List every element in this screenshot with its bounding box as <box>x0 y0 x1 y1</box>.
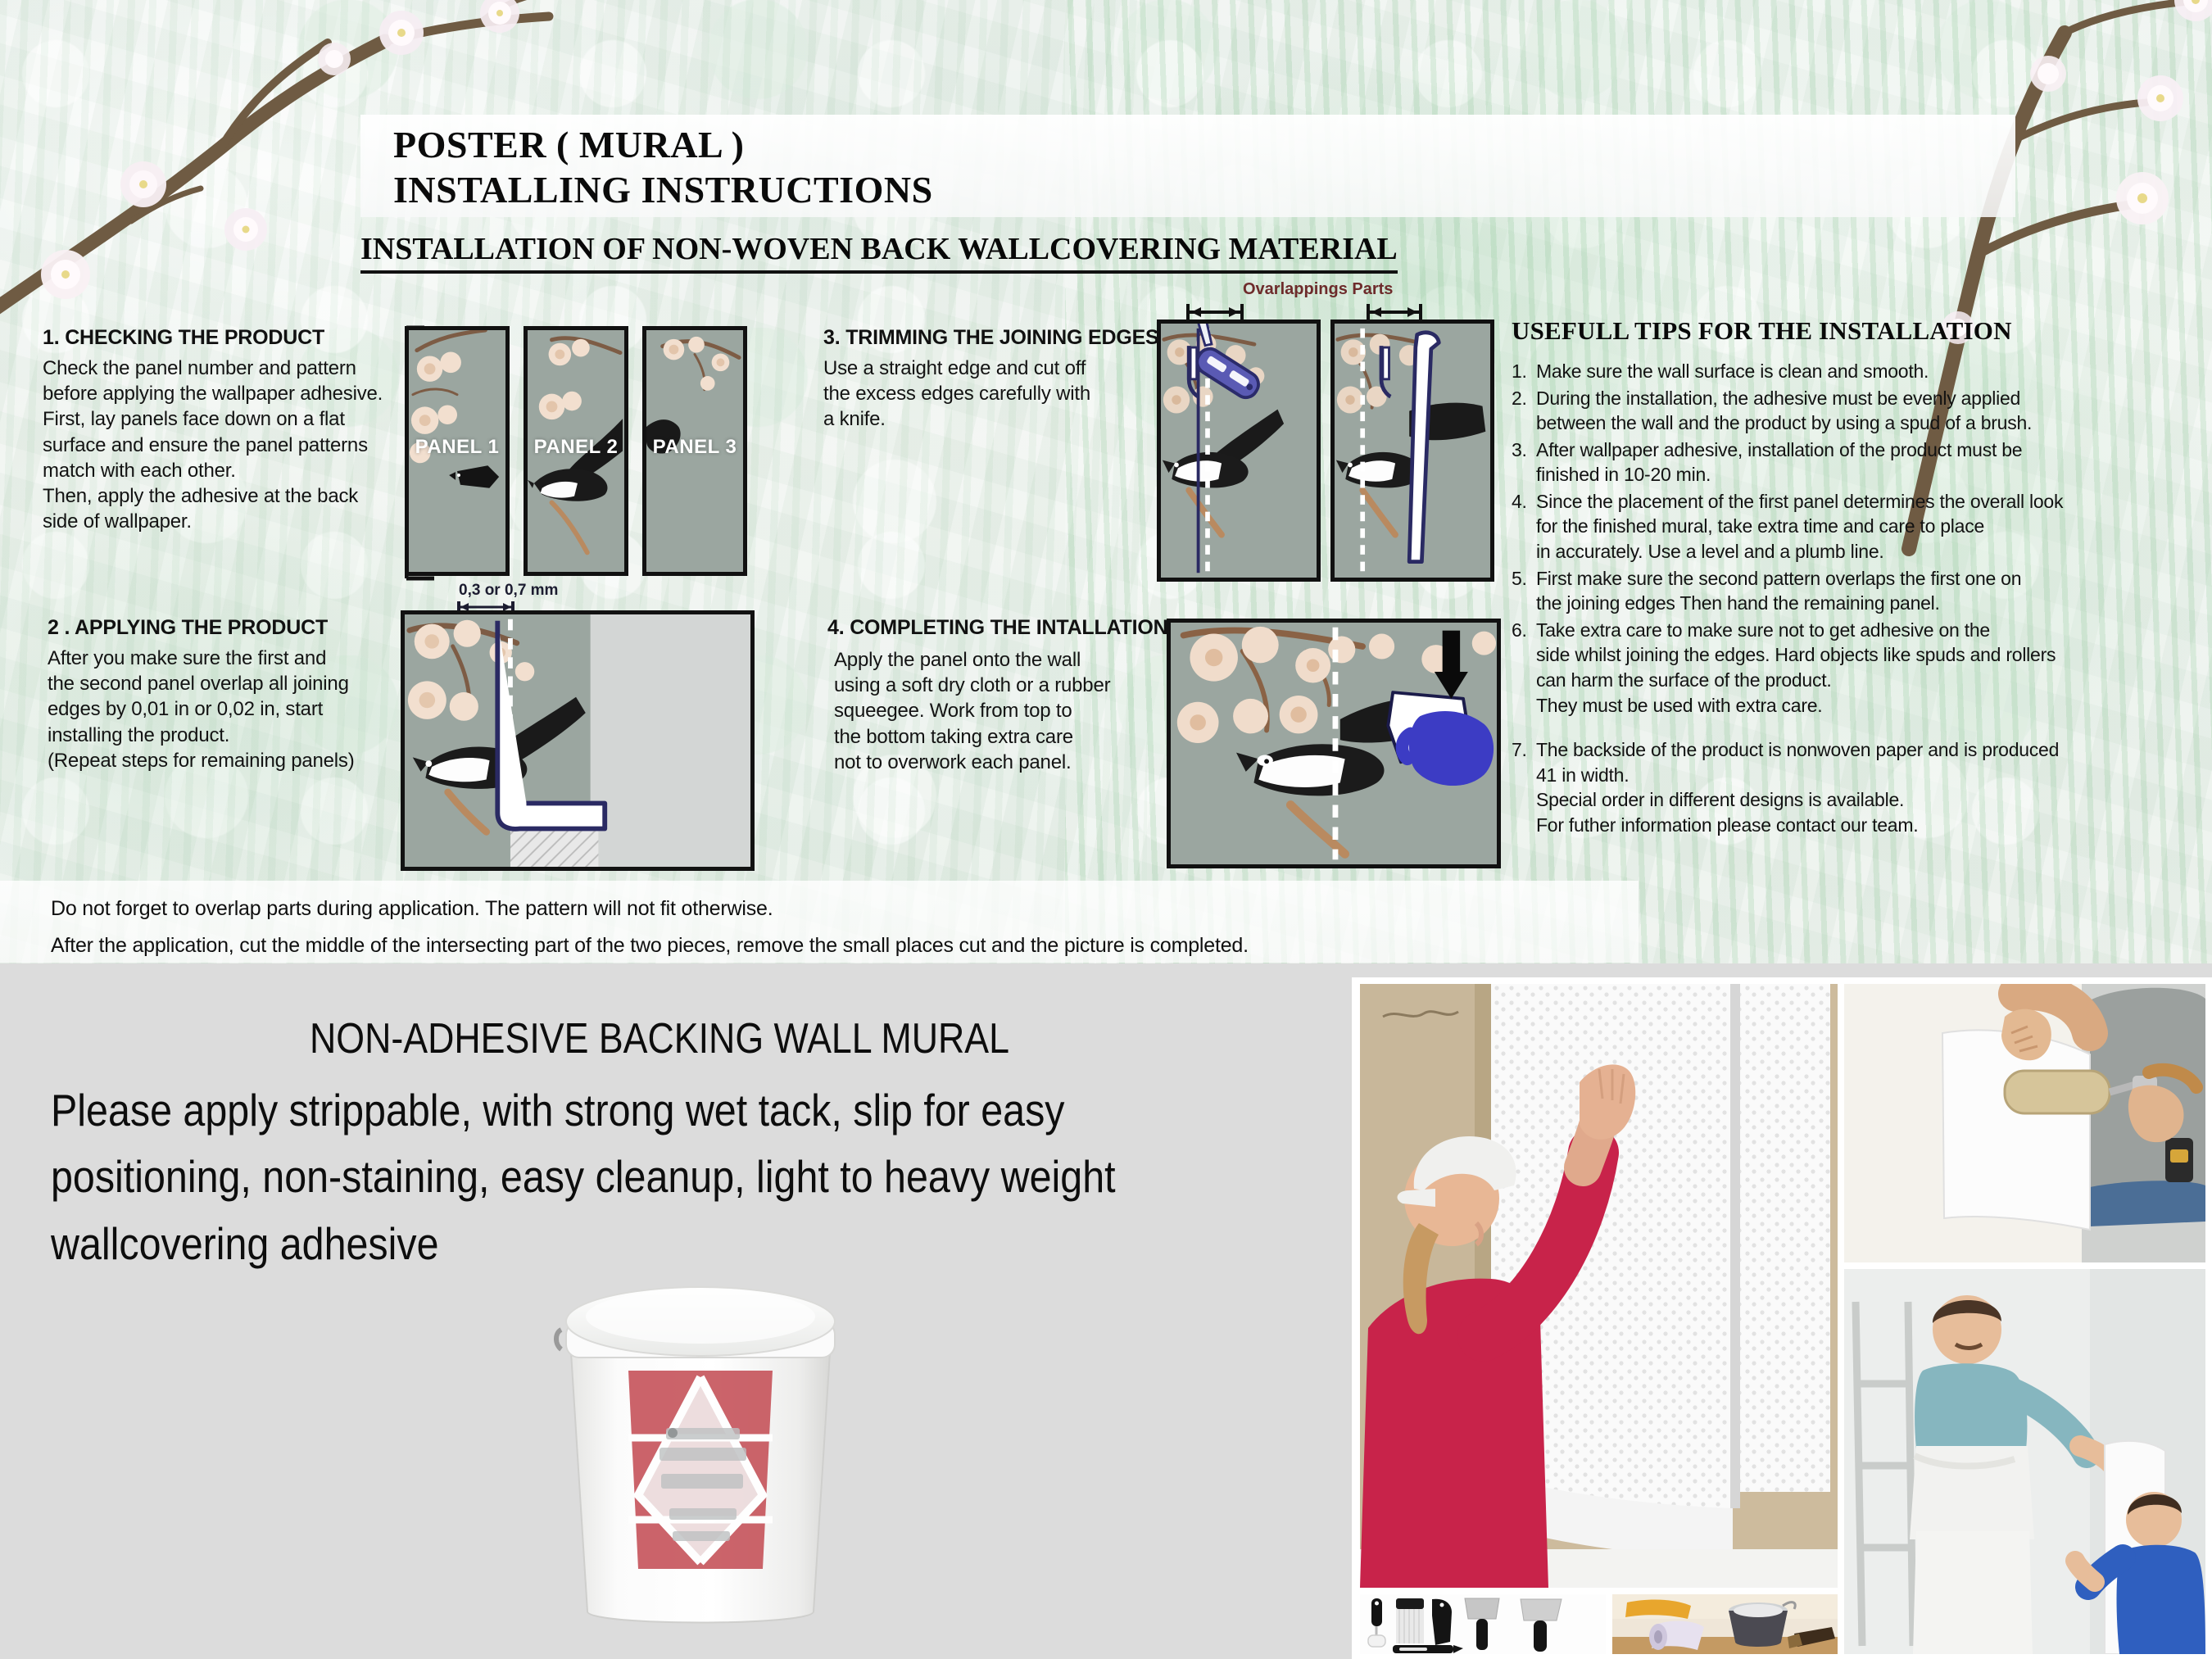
tip-number: 6. <box>1512 618 1536 718</box>
footer-note-1: Do not forget to overlap parts during ap… <box>51 897 773 921</box>
tip-text: Take extra care to make sure not to get … <box>1536 618 2167 718</box>
footer-note-2: After the application, cut the middle of… <box>51 934 1249 958</box>
tip-item: 3. After wallpaper adhesive, installatio… <box>1512 437 2167 487</box>
useful-tips-section: USEFULL TIPS FOR THE INSTALLATION 1. Mak… <box>1512 316 2167 839</box>
measure-note: 0,3 or 0,7 mm <box>459 582 558 600</box>
step-4-body: Apply the panel onto the wall using a so… <box>827 647 1155 775</box>
overlap-illustration <box>405 614 750 867</box>
photo-wallpaper-tool-set <box>1360 1594 1606 1654</box>
panel-2: PANEL 2 <box>524 326 628 576</box>
photo-paste-and-brushes <box>1612 1594 1838 1654</box>
tip-text: During the installation, the adhesive mu… <box>1536 386 2167 436</box>
step-1-body: Check the panel number and pattern befor… <box>43 356 428 534</box>
tips-title: USEFULL TIPS FOR THE INSTALLATION <box>1512 316 2167 346</box>
step-3-diagram <box>1157 320 1501 582</box>
tip-number: 5. <box>1512 566 1536 616</box>
step-1-checking-the-product: 1. CHECKING THE PRODUCT Check the panel … <box>43 326 428 534</box>
tip-item: 7. The backside of the product is nonwov… <box>1512 737 2167 837</box>
panel-3-label: PANEL 3 <box>646 436 743 459</box>
step-3-body: Use a straight edge and cut off the exce… <box>823 356 1151 433</box>
photo-applying-paste-roller <box>1844 984 2205 1262</box>
subtitle-wrap: INSTALLATION OF NON-WOVEN BACK WALLCOVER… <box>360 231 1426 277</box>
panel-2-label: PANEL 2 <box>528 436 624 459</box>
page-title-line2: INSTALLING INSTRUCTIONS <box>393 168 933 211</box>
tip-number: 3. <box>1512 437 1536 487</box>
panel-1-label: PANEL 1 <box>409 436 505 459</box>
page-subtitle: INSTALLATION OF NON-WOVEN BACK WALLCOVER… <box>360 231 1398 274</box>
tip-number: 1. <box>1512 359 1536 384</box>
step-2-heading: 2 . APPLYING THE PRODUCT <box>48 616 433 640</box>
straight-edge-illustration <box>1330 320 1494 582</box>
panels-diagram: PANEL 1 <box>405 326 765 576</box>
step-2-applying-the-product: 2 . APPLYING THE PRODUCT After you make … <box>48 616 433 773</box>
overlapping-parts-label: Ovarlappings Parts <box>1243 280 1393 299</box>
page-title-line1: POSTER ( MURAL ) <box>393 123 744 166</box>
tip-item: 2. During the installation, the adhesive… <box>1512 386 2167 436</box>
tip-text: Since the placement of the first panel d… <box>1536 489 2167 564</box>
step-4-diagram <box>1167 619 1501 868</box>
tip-text: First make sure the second pattern overl… <box>1536 566 2167 616</box>
panel-3: PANEL 3 <box>642 326 747 576</box>
tip-item: 4. Since the placement of the first pane… <box>1512 489 2167 564</box>
tips-list: 1. Make sure the wall surface is clean a… <box>1512 359 2167 837</box>
step-3-heading: 3. TRIMMING THE JOINING EDGES <box>823 326 1151 350</box>
tip-text: After wallpaper adhesive, installation o… <box>1536 437 2167 487</box>
trimming-with-knife-illustration <box>1157 320 1321 582</box>
photo-man-and-child-hanging <box>1844 1269 2205 1654</box>
squeegee-illustration <box>1171 623 1497 864</box>
tip-item: 1. Make sure the wall surface is clean a… <box>1512 359 2167 384</box>
step-2-diagram <box>401 610 755 871</box>
step-3-trimming-the-joining-edges: 3. TRIMMING THE JOINING EDGES Use a stra… <box>823 326 1151 433</box>
tip-text: Make sure the wall surface is clean and … <box>1536 359 2167 384</box>
step-1-heading: 1. CHECKING THE PRODUCT <box>43 326 428 350</box>
tip-number: 2. <box>1512 386 1536 436</box>
panel-1: PANEL 1 <box>405 326 510 576</box>
step-2-body: After you make sure the first and the se… <box>48 646 433 773</box>
tip-item: 5. First make sure the second pattern ov… <box>1512 566 2167 616</box>
tip-number: 7. <box>1512 737 1536 837</box>
photo-collage <box>1352 977 2212 1659</box>
instructions-panel: POSTER ( MURAL ) INSTALLING INSTRUCTIONS… <box>0 0 2212 963</box>
tip-number: 4. <box>1512 489 1536 564</box>
photo-woman-hanging-wallpaper <box>1360 984 1838 1588</box>
step-4-completing-the-installation: 4. COMPLETING THE INTALLATION Apply the … <box>827 616 1155 775</box>
promo-body: Please apply strippable, with strong wet… <box>51 1077 1176 1277</box>
tip-item: 6. Take extra care to make sure not to g… <box>1512 618 2167 718</box>
step-4-heading: 4. COMPLETING THE INTALLATION <box>827 616 1155 640</box>
promo-title: NON-ADHESIVE BACKING WALL MURAL <box>310 1014 1009 1063</box>
wallcovering-adhesive-bucket <box>537 1274 864 1634</box>
tip-text: The backside of the product is nonwoven … <box>1536 737 2167 837</box>
